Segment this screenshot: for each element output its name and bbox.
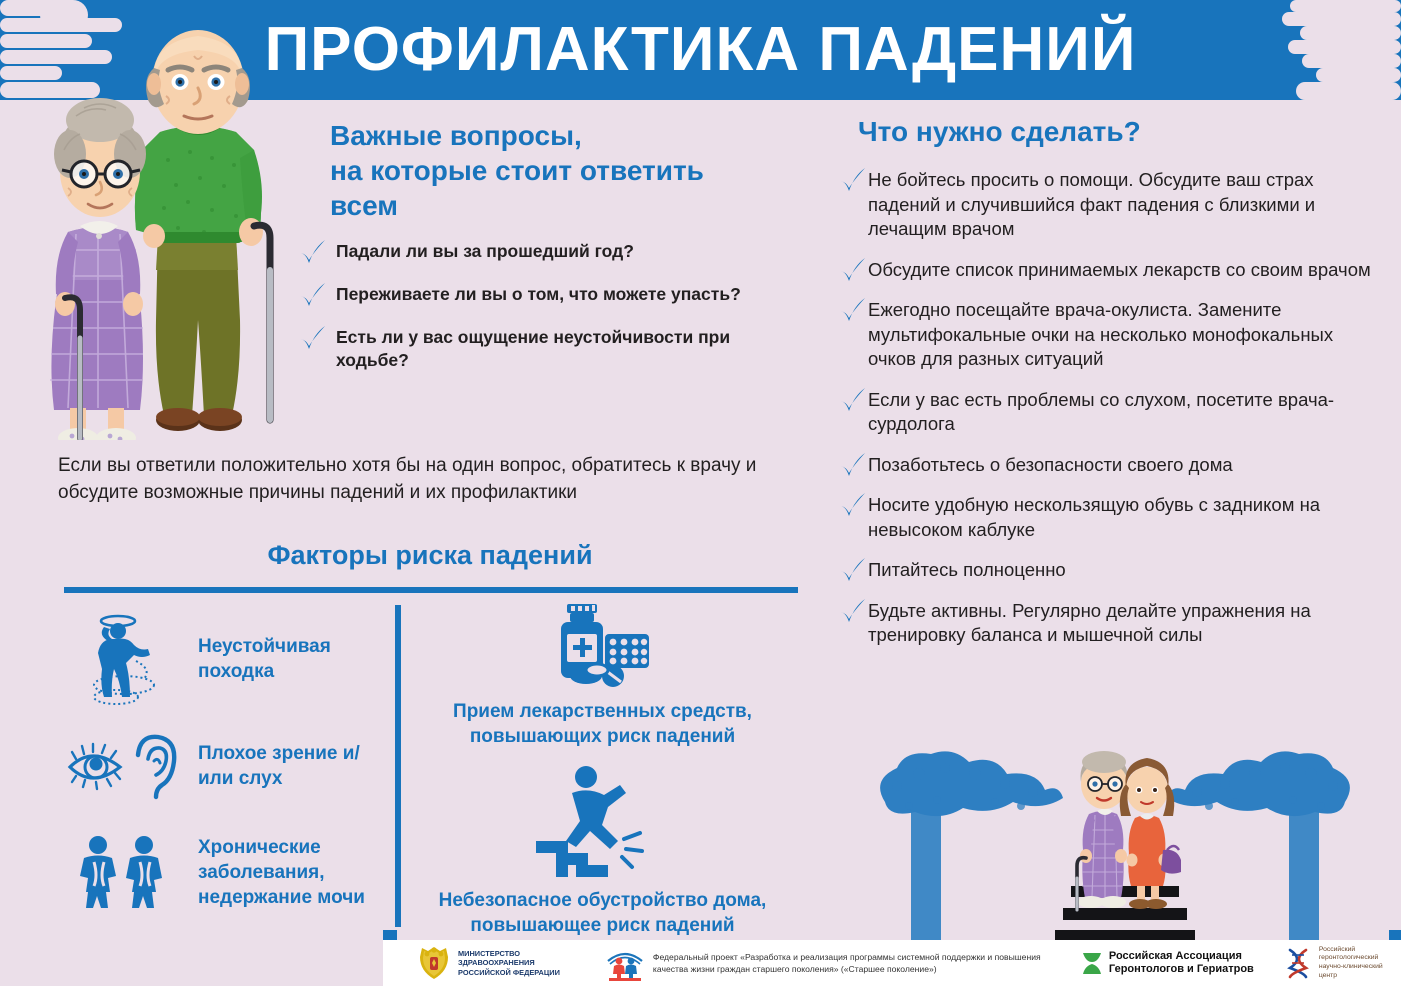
center-text: Российский геронтологический научно-клин… (1319, 946, 1383, 980)
action-text: Питайтесь полноценно (868, 558, 1383, 583)
russian-coat-of-arms-icon (417, 945, 451, 981)
risk-factors-right-list: Прием лекарственных средств, повышающих … (405, 600, 800, 944)
checkmark-icon (838, 491, 868, 521)
two-people-icon (60, 834, 188, 912)
risk-factors-left-list: Неустойчивая походка (60, 605, 390, 926)
risk-factors-divider-horizontal (64, 587, 798, 593)
federal-project-text: Федеральный проект «Разработка и реализа… (653, 951, 1058, 975)
action-text: Обсудите список принимаемых лекарств со … (868, 258, 1383, 283)
checkmark-icon (838, 386, 868, 416)
risk-factor-item: Небезопасное обустройство дома, повышающ… (405, 763, 800, 938)
action-item: Обсудите список принимаемых лекарств со … (838, 258, 1383, 283)
question-text: Падали ли вы за прошедший год? (336, 240, 798, 263)
eye-icon (70, 744, 120, 789)
action-item: Если у вас есть проблемы со слухом, посе… (838, 388, 1383, 437)
ministry-line3: РОССИЙСКОЙ ФЕДЕРАЦИИ (458, 968, 560, 978)
action-item: Будьте активны. Регулярно делайте упражн… (838, 599, 1383, 648)
question-item: Падали ли вы за прошедший год? (298, 240, 798, 263)
action-text: Позаботьтесь о безопасности своего дома (868, 453, 1383, 478)
risk-factors-title: Факторы риска падений (60, 540, 800, 571)
advice-note: Если вы ответили положительно хотя бы на… (58, 452, 798, 506)
association-leaf-icon (1082, 950, 1102, 976)
actions-heading: Что нужно сделать? (858, 116, 1141, 148)
grandmother-and-girl-crosswalk-illustration (845, 740, 1401, 940)
checkmark-icon (838, 597, 868, 627)
action-text: Если у вас есть проблемы со слухом, посе… (868, 388, 1383, 437)
actions-list: Не бойтесь просить о помощи. Обсудите ва… (838, 168, 1383, 664)
center-line4: центр (1319, 972, 1383, 981)
checkmark-icon (838, 296, 868, 326)
gerontological-center-group: Российский геронтологический научно-клин… (1284, 946, 1383, 980)
action-item: Питайтесь полноценно (838, 558, 1383, 583)
risk-factor-item: Прием лекарственных средств, повышающих … (405, 600, 800, 749)
tree-left (880, 751, 1063, 940)
questions-heading: Важные вопросы, на которые стоит ответит… (330, 118, 780, 223)
risk-factor-label: Небезопасное обустройство дома, повышающ… (405, 888, 800, 938)
risk-factor-item: Хронические заболевания, недержание мочи (60, 819, 390, 926)
checkmark-icon (298, 324, 328, 354)
ministry-text: МИНИСТЕРСТВО ЗДРАВООХРАНЕНИЯ РОССИЙСКОЙ … (458, 949, 560, 978)
action-item: Ежегодно посещайте врача-окулиста. Замен… (838, 298, 1383, 372)
question-text: Есть ли у вас ощущение неустойчивости пр… (336, 326, 798, 372)
unsteady-gait-icon (60, 611, 188, 707)
association-line2: Геронтологов и Гериатров (1109, 963, 1254, 976)
risk-factor-item: Плохое зрение и/или слух (60, 712, 390, 819)
tree-right (1167, 751, 1350, 940)
center-line2: геронтологический (1319, 954, 1383, 963)
action-text: Ежегодно посещайте врача-окулиста. Замен… (868, 298, 1383, 372)
risk-factor-label: Неустойчивая походка (198, 634, 390, 684)
stairs-fall-icon (528, 763, 678, 881)
risk-factor-label: Плохое зрение и/или слух (198, 741, 390, 791)
checkmark-icon (298, 238, 328, 268)
question-item: Переживаете ли вы о том, что можете упас… (298, 283, 798, 306)
checkmark-icon (298, 281, 328, 311)
action-text: Будьте активны. Регулярно делайте упражн… (868, 599, 1383, 648)
questions-list: Падали ли вы за прошедший год? Переживае… (298, 240, 798, 392)
park-grandmother-figure (1077, 751, 1128, 910)
left-column: Важные вопросы, на которые стоит ответит… (0, 100, 810, 930)
action-item: Позаботьтесь о безопасности своего дома (838, 453, 1383, 478)
center-line3: научно-клинический (1319, 963, 1383, 972)
dna-helix-icon (1284, 947, 1312, 979)
risk-factor-label: Прием лекарственных средств, повышающих … (405, 699, 800, 749)
action-text: Носите удобную нескользящую обувь с задн… (868, 493, 1383, 542)
checkmark-icon (838, 166, 868, 196)
checkmark-icon (838, 256, 868, 286)
question-item: Есть ли у вас ощущение неустойчивости пр… (298, 326, 798, 372)
association-text: Российская Ассоциация Геронтологов и Гер… (1109, 950, 1254, 976)
risk-factors-divider-vertical (395, 605, 401, 927)
association-logo-group: Российская Ассоциация Геронтологов и Гер… (1082, 950, 1254, 976)
eye-ear-icon (60, 731, 188, 801)
question-text: Переживаете ли вы о том, что можете упас… (336, 283, 798, 306)
senior-generation-logo-icon (604, 945, 646, 981)
footer-bar: МИНИСТЕРСТВО ЗДРАВООХРАНЕНИЯ РОССИЙСКОЙ … (383, 940, 1401, 986)
federal-project-group: Федеральный проект «Разработка и реализа… (604, 945, 1058, 981)
risk-factor-item: Неустойчивая походка (60, 605, 390, 712)
action-text: Не бойтесь просить о помощи. Обсудите ва… (868, 168, 1383, 242)
action-item: Не бойтесь просить о помощи. Обсудите ва… (838, 168, 1383, 242)
ministry-line2: ЗДРАВООХРАНЕНИЯ (458, 958, 560, 968)
checkmark-icon (838, 556, 868, 586)
ministry-logo-group: МИНИСТЕРСТВО ЗДРАВООХРАНЕНИЯ РОССИЙСКОЙ … (417, 945, 560, 981)
risk-factor-label: Хронические заболевания, недержание мочи (198, 835, 390, 910)
action-item: Носите удобную нескользящую обувь с задн… (838, 493, 1383, 542)
checkmark-icon (838, 451, 868, 481)
association-line1: Российская Ассоциация (1109, 950, 1254, 963)
medication-bottle-pills-icon (539, 600, 667, 692)
ministry-line1: МИНИСТЕРСТВО (458, 949, 560, 959)
ear-icon (138, 736, 174, 796)
